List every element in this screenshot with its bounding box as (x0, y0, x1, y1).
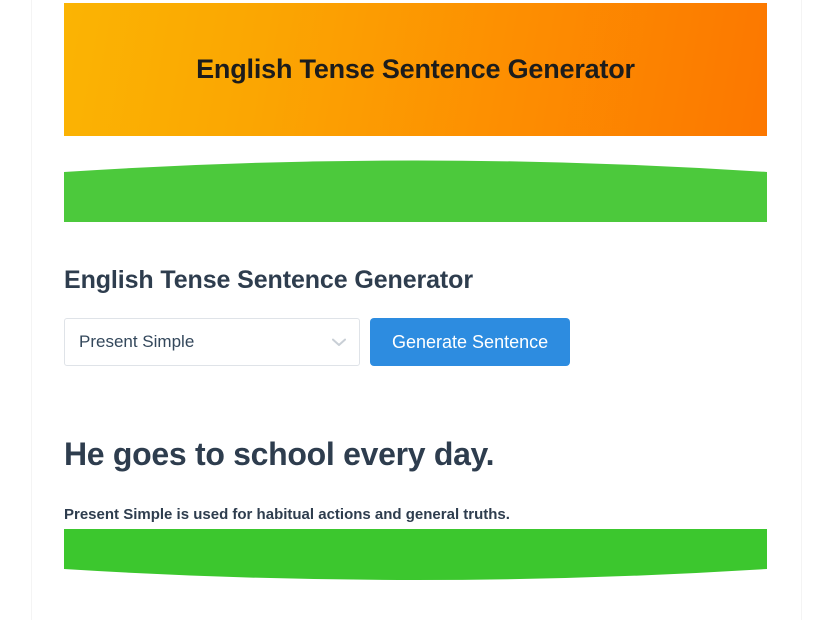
content-column: English Tense Sentence Generator English… (64, 0, 767, 620)
page-root: English Tense Sentence Generator English… (0, 0, 837, 620)
page-title: English Tense Sentence Generator (64, 266, 473, 295)
generated-sentence: He goes to school every day. (64, 436, 494, 473)
generator-controls: Present Simple Generate Sentence (64, 318, 570, 366)
green-divider-top (64, 156, 767, 222)
green-divider-bottom (64, 529, 767, 581)
tense-select-wrapper: Present Simple (64, 318, 360, 366)
tense-select[interactable]: Present Simple (64, 318, 360, 366)
hero-banner: English Tense Sentence Generator (64, 3, 767, 136)
green-curved-divider-top-shape (64, 156, 767, 222)
container-left-rule (31, 0, 32, 620)
generate-sentence-button[interactable]: Generate Sentence (370, 318, 570, 366)
hero-title: English Tense Sentence Generator (196, 54, 635, 85)
green-curved-divider-bottom-shape (64, 529, 767, 581)
tense-explanation: Present Simple is used for habitual acti… (64, 506, 510, 523)
container-right-rule (801, 0, 802, 620)
